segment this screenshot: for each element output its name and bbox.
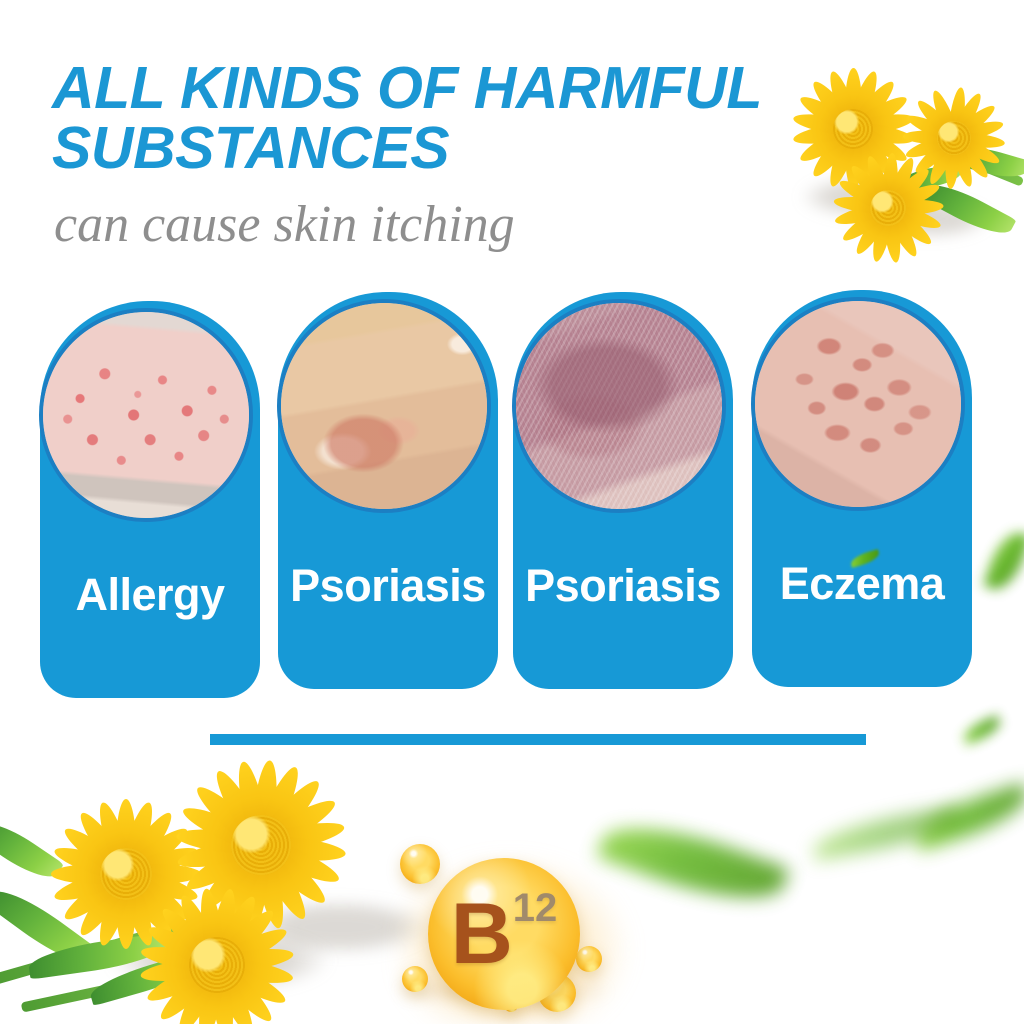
- condition-card-eczema[interactable]: Eczema: [752, 290, 972, 687]
- daisy-center: [231, 815, 291, 875]
- condition-card-allergy[interactable]: Allergy: [40, 301, 260, 698]
- vitamin-bubble: [402, 966, 428, 992]
- condition-card-psoriasis-1[interactable]: Psoriasis: [278, 292, 498, 689]
- condition-card-label: Psoriasis: [278, 560, 498, 612]
- poster-canvas: ALL KINDS OF HARMFUL SUBSTANCES can caus…: [0, 0, 1024, 1024]
- daisy-center: [189, 937, 245, 993]
- skin-photo-allergy: [39, 308, 253, 522]
- skin-photo-eczema: [751, 297, 965, 511]
- vitamin-b12-badge: B12: [390, 838, 640, 1024]
- skin-texture: [43, 312, 249, 518]
- skin-photo-psoriasis-1: [277, 299, 491, 513]
- condition-card-psoriasis-2[interactable]: Psoriasis: [513, 292, 733, 689]
- condition-card-label: Eczema: [752, 558, 972, 610]
- condition-card-label: Allergy: [40, 569, 260, 621]
- skin-photo-psoriasis-2: [512, 299, 726, 513]
- daisy-flower: [132, 880, 302, 1024]
- page-title: ALL KINDS OF HARMFUL SUBSTANCES: [52, 58, 812, 178]
- skin-texture: [281, 303, 487, 509]
- skin-texture: [516, 303, 722, 509]
- vitamin-number: 12: [513, 888, 558, 928]
- vitamin-label: B12: [428, 858, 580, 1010]
- condition-card-label: Psoriasis: [513, 560, 733, 612]
- page-subtitle: can cause skin itching: [54, 196, 515, 254]
- vitamin-letter: B: [451, 891, 511, 977]
- skin-texture: [755, 301, 961, 507]
- section-divider: [210, 734, 866, 745]
